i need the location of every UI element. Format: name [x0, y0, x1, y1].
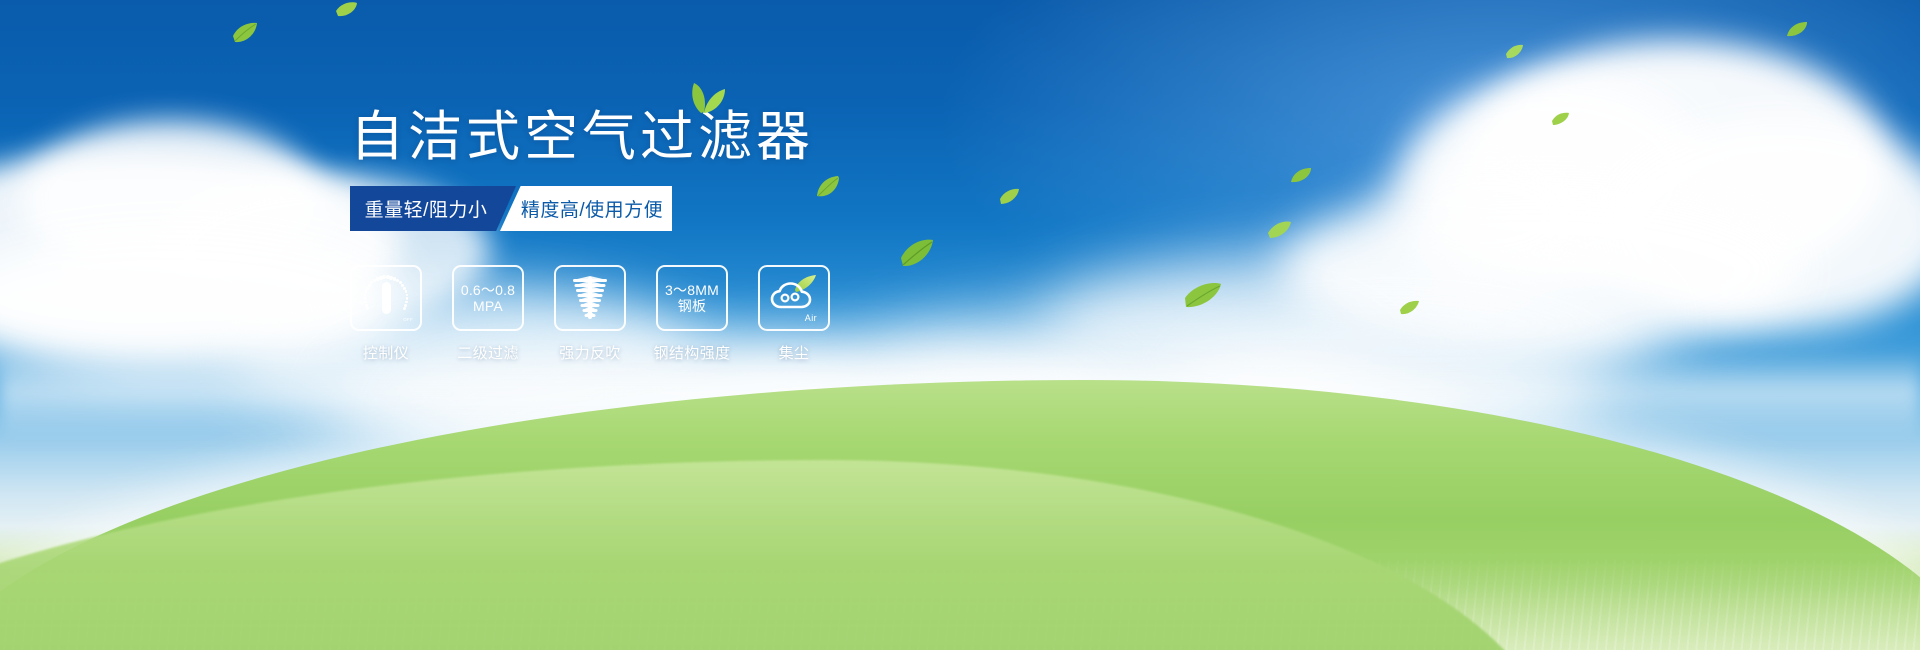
- cloud-shape: [0, 150, 400, 340]
- steel-thickness-line: 3～8MM: [665, 282, 719, 298]
- gauge-label-off: OFF: [403, 317, 413, 322]
- leaf-icon: [1786, 20, 1808, 38]
- feature-icon-box: 0.6～0.8 MPA: [452, 265, 524, 331]
- gauge-tick-dot: [364, 297, 366, 299]
- feature-label: 二级过滤: [457, 342, 519, 363]
- cloud-glyph-icon: [767, 274, 821, 314]
- cloud-shape: [1280, 185, 1800, 355]
- air-label: Air: [805, 313, 817, 323]
- gauge-tick-dot: [405, 290, 408, 293]
- gauge-tick-dot: [405, 301, 407, 303]
- steel-plate-line: 钢板: [665, 298, 719, 314]
- banner-title: 自洁式空气过滤器: [350, 110, 970, 164]
- banner-content: 自洁式空气过滤器 重量轻/阻力小 精度高/使用方便 NO OFF 控制仪: [350, 110, 970, 363]
- gauge-tick-dot: [366, 287, 369, 290]
- feature-label: 钢结构强度: [654, 342, 731, 363]
- feature-icon-box: Air: [758, 265, 830, 331]
- feature-item-two-stage-filtration[interactable]: 0.6～0.8 MPA 二级过滤: [452, 265, 524, 363]
- leaf-icon: [1400, 300, 1420, 316]
- gauge-tick-dot: [406, 294, 408, 296]
- filter-stack-fin: [585, 311, 595, 315]
- feature-tab-group: 重量轻/阻力小 精度高/使用方便: [350, 186, 672, 231]
- leaf-icon: [1290, 166, 1312, 184]
- gauge-tick-dot: [365, 304, 368, 307]
- feature-icon-box: 3～8MM 钢板: [656, 265, 728, 331]
- feature-item-steel-strength[interactable]: 3～8MM 钢板 钢结构强度: [656, 265, 728, 363]
- filter-stack-fin: [573, 276, 607, 280]
- leaf-icon: [1552, 112, 1570, 126]
- filter-stack-fin: [579, 296, 601, 300]
- leaf-icon: [232, 22, 258, 44]
- feature-item-controller[interactable]: NO OFF 控制仪: [350, 265, 422, 363]
- cloud-shape: [1380, 140, 1600, 290]
- air-cloud-dust-icon: Air: [767, 274, 821, 322]
- gauge-tick-dot: [406, 297, 408, 299]
- title-leaf-icon: [680, 80, 726, 114]
- gauge-needle: [382, 282, 391, 314]
- gauge-tick-dot: [368, 284, 371, 287]
- feature-icon-list: NO OFF 控制仪 0.6～0.8 MPA 二级过滤: [350, 265, 970, 363]
- product-hero-banner: 自洁式空气过滤器 重量轻/阻力小 精度高/使用方便 NO OFF 控制仪: [0, 0, 1920, 650]
- pressure-text-icon: 0.6～0.8 MPA: [461, 282, 515, 314]
- cloud-shape: [20, 120, 320, 280]
- filter-stack-fin: [578, 291, 602, 295]
- pressure-unit-line: MPA: [461, 298, 515, 314]
- feature-label: 控制仪: [363, 342, 409, 363]
- filter-stack-fin: [583, 306, 597, 310]
- gauge-dial-icon: NO OFF: [358, 273, 414, 323]
- leaf-icon: [336, 2, 358, 18]
- feature-item-strong-backblow[interactable]: 强力反吹: [554, 265, 626, 363]
- leaf-icon: [1506, 44, 1524, 60]
- pressure-range-line: 0.6～0.8: [461, 282, 515, 298]
- feature-icon-box: NO OFF: [350, 265, 422, 331]
- gauge-tick-dot: [366, 307, 369, 310]
- filter-stack-fin: [581, 301, 599, 305]
- filter-stack-icon: [567, 275, 613, 321]
- tab-high-precision-easy-use[interactable]: 精度高/使用方便: [500, 186, 672, 231]
- gauge-tick-dot: [403, 307, 406, 310]
- feature-label: 强力反吹: [559, 342, 621, 363]
- steel-plate-text-icon: 3～8MM 钢板: [665, 282, 719, 314]
- gauge-tick-dot: [365, 290, 368, 293]
- filter-stack-fin: [575, 281, 605, 285]
- feature-item-dust-collection[interactable]: Air 集尘: [758, 265, 830, 363]
- filter-stack-fin: [576, 286, 604, 290]
- tab-lightweight-low-resistance[interactable]: 重量轻/阻力小: [350, 186, 516, 231]
- cloud-shape: [1405, 78, 1705, 278]
- leaf-icon: [1268, 220, 1292, 240]
- leaf-icon: [1000, 188, 1020, 206]
- cloud-shape: [1460, 40, 1890, 290]
- leaf-icon: [1184, 282, 1222, 310]
- gauge-tick-dot: [364, 301, 366, 303]
- cloud-shape: [1600, 120, 1920, 330]
- gauge-tick-dot: [364, 294, 366, 296]
- feature-icon-box: [554, 265, 626, 331]
- feature-label: 集尘: [779, 342, 810, 363]
